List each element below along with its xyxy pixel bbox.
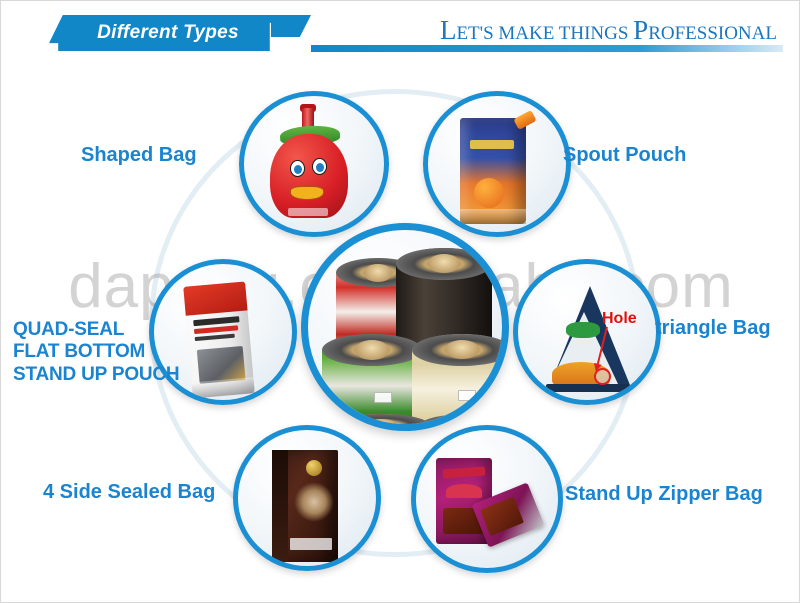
tagline-initial-p: P bbox=[633, 15, 648, 45]
label-stand-up-zipper-bag: Stand Up Zipper Bag bbox=[565, 483, 763, 507]
tagline: LET'S MAKE THINGS PROFESSIONAL bbox=[440, 15, 777, 46]
pouch-brand-label bbox=[288, 208, 328, 216]
pouch-text-line-1 bbox=[193, 316, 239, 326]
roll-print-label bbox=[458, 390, 476, 401]
label-quad-seal-line-2: FLAT BOTTOM bbox=[13, 341, 179, 363]
triangle-bag-base bbox=[546, 384, 630, 392]
pouch-photo-panel bbox=[197, 346, 246, 384]
header: Different Types LET'S MAKE THINGS PROFES… bbox=[1, 1, 800, 67]
roll-print-label bbox=[374, 392, 392, 403]
triangle-bag-logo bbox=[566, 322, 600, 338]
node-four-side-sealed-bag bbox=[233, 425, 381, 571]
product-types-infographic: Different Types LET'S MAKE THINGS PROFES… bbox=[0, 0, 800, 603]
bag-gusset-panel bbox=[272, 450, 288, 562]
tagline-middle: ET'S MAKE THINGS bbox=[456, 23, 633, 44]
label-four-side-sealed-bag: 4 Side Sealed Bag bbox=[43, 481, 215, 505]
hole-annotation-label: Hole bbox=[602, 310, 637, 328]
node-spout-pouch bbox=[423, 91, 571, 237]
pouch-top-panel bbox=[183, 282, 247, 316]
stand-up-zipper-image bbox=[416, 430, 558, 568]
label-spout-pouch: Spout Pouch bbox=[563, 144, 686, 168]
banner-title: Different Types bbox=[49, 15, 279, 51]
roll-core bbox=[364, 264, 393, 282]
node-shaped-bag bbox=[239, 91, 389, 237]
label-quad-seal-pouch: QUAD-SEAL FLAT BOTTOM STAND UP POUCH bbox=[13, 319, 179, 386]
banner-different-types: Different Types bbox=[49, 15, 279, 51]
node-film-rolls bbox=[301, 223, 509, 431]
coffee-bag bbox=[272, 450, 338, 562]
tagline-end: ROFESSIONAL bbox=[648, 23, 777, 44]
bag-window bbox=[290, 538, 332, 550]
quad-seal-pouch bbox=[183, 282, 255, 399]
roll-core bbox=[355, 340, 389, 359]
cartoon-eye-left bbox=[290, 160, 305, 177]
node-triangle-bag: Hole bbox=[513, 259, 661, 405]
spout-pouch-image bbox=[428, 96, 566, 232]
film-rolls-image bbox=[308, 230, 502, 424]
four-side-sealed-image bbox=[238, 430, 376, 566]
flat-pouch-photo bbox=[480, 497, 524, 536]
pouch-text-line-3 bbox=[195, 334, 235, 341]
bag-coffee-graphic bbox=[294, 482, 334, 522]
label-shaped-bag: Shaped Bag bbox=[81, 144, 197, 168]
strawberry-body bbox=[270, 134, 348, 218]
banner-tail-accent bbox=[271, 15, 311, 37]
pouch-ribbon-graphic bbox=[443, 467, 486, 479]
pouch-spout-cap bbox=[513, 110, 536, 130]
header-rule bbox=[311, 45, 783, 52]
pouch-brand-bar bbox=[470, 140, 514, 149]
cartoon-eye-right bbox=[312, 158, 327, 175]
cartoon-mouth bbox=[290, 186, 324, 200]
triangle-bag-image: Hole bbox=[518, 264, 656, 400]
label-quad-seal-line-1: QUAD-SEAL bbox=[13, 319, 179, 341]
orange-fruit-graphic bbox=[474, 178, 504, 208]
pouch-heart-graphic bbox=[446, 484, 482, 498]
tagline-initial-l: L bbox=[440, 15, 457, 45]
bag-medal-graphic bbox=[306, 460, 322, 476]
shaped-bag-image bbox=[244, 96, 384, 232]
node-stand-up-zipper-bag bbox=[411, 425, 563, 573]
label-quad-seal-line-3: STAND UP POUCH bbox=[13, 364, 179, 386]
orange-juice-pouch bbox=[460, 118, 526, 224]
label-triangle-bag: triangle Bag bbox=[655, 317, 771, 341]
